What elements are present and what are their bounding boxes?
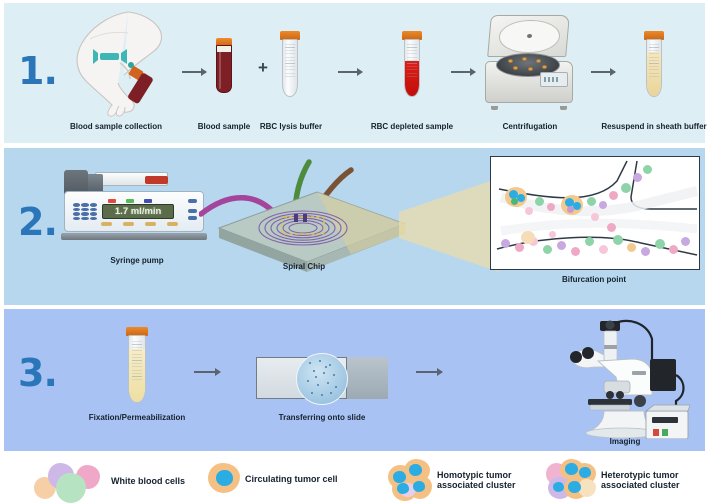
step-1-label-centrifugation: Centrifugation [491,122,569,132]
bifurcation-inset-icon [490,156,700,270]
fixation-tube-icon [126,327,148,403]
wbc-cluster-icon [34,461,106,501]
cell-droplet [296,353,348,405]
step-1-number: 1. [18,49,57,93]
arrow-4 [591,71,615,73]
arrow-2 [338,71,362,73]
step-1-label-blood-collection: Blood sample collection [46,122,186,132]
syringe-pump-icon: 1.7 ml/min [64,170,204,240]
legend-label-heterotypic-line2: associated cluster [601,480,680,491]
workflow-step-3-panel: 3. Fixation/Permeabilization [4,309,705,451]
arrow-6 [416,371,442,373]
plus-sign: + [258,58,268,78]
step-2-label-syringe-pump: Syringe pump [99,256,175,266]
step-3-number: 3. [18,351,57,395]
legend-item-ctc: Circulating tumor cell [208,463,338,495]
arrow-5 [194,371,220,373]
legend-label-heterotypic: Heterotypic tumor associated cluster [601,470,680,491]
spiral-microfluidic-chip-icon [199,156,414,276]
step-1-label-rbc-lysis: RBC lysis buffer [252,122,330,132]
legend-label-heterotypic-line1: Heterotypic tumor [601,470,680,481]
arrow-3 [451,71,475,73]
step-1-label-rbc-depleted: RBC depleted sample [366,122,458,132]
legend-item-homotypic: Homotypic tumor associated cluster [388,459,516,501]
heterotypic-cluster-icon [546,459,596,501]
arm-venipuncture-icon [60,9,172,117]
centrifuge-icon [483,15,575,107]
fluorescence-microscope-icon [560,315,690,439]
conical-tube-buffer-icon [644,31,664,97]
step-1-label-blood-sample: Blood sample [189,122,259,132]
arrow-1 [182,71,206,73]
step-2-label-bifurcation: Bifurcation point [540,275,648,285]
zoom-cone [399,176,499,276]
legend: White blood cells Circulating tumor cell… [0,455,709,504]
microscope-slide-icon [256,357,388,399]
conical-tube-red-icon [402,31,422,97]
legend-label-wbc: White blood cells [111,476,185,487]
workflow-step-1-panel: 1. Blood sample collection Blood sample … [4,3,705,143]
step-3-label-fixation: Fixation/Permeabilization [76,413,198,423]
legend-label-ctc: Circulating tumor cell [245,474,338,485]
ctc-icon [208,463,240,495]
step-2-label-spiral-chip: Spiral Chip [269,262,339,272]
step-1-label-resuspend: Resuspend in sheath buffer [596,122,709,132]
step-3-label-transferring: Transferring onto slide [266,413,378,423]
homotypic-cluster-icon [388,459,432,501]
legend-label-homotypic-line2: associated cluster [437,480,516,491]
legend-item-heterotypic: Heterotypic tumor associated cluster [546,459,680,501]
blood-vacutainer-icon [216,38,232,93]
legend-item-wbc: White blood cells [34,461,185,501]
step-3-label-imaging: Imaging [594,437,656,447]
pump-display-value: 1.7 ml/min [102,204,174,219]
conical-tube-icon [280,31,300,97]
workflow-step-2-panel: 2. 1.7 ml/min Syringe pump [4,148,705,305]
step-2-number: 2. [18,200,57,244]
legend-label-homotypic: Homotypic tumor associated cluster [437,470,516,491]
legend-label-homotypic-line1: Homotypic tumor [437,470,516,481]
